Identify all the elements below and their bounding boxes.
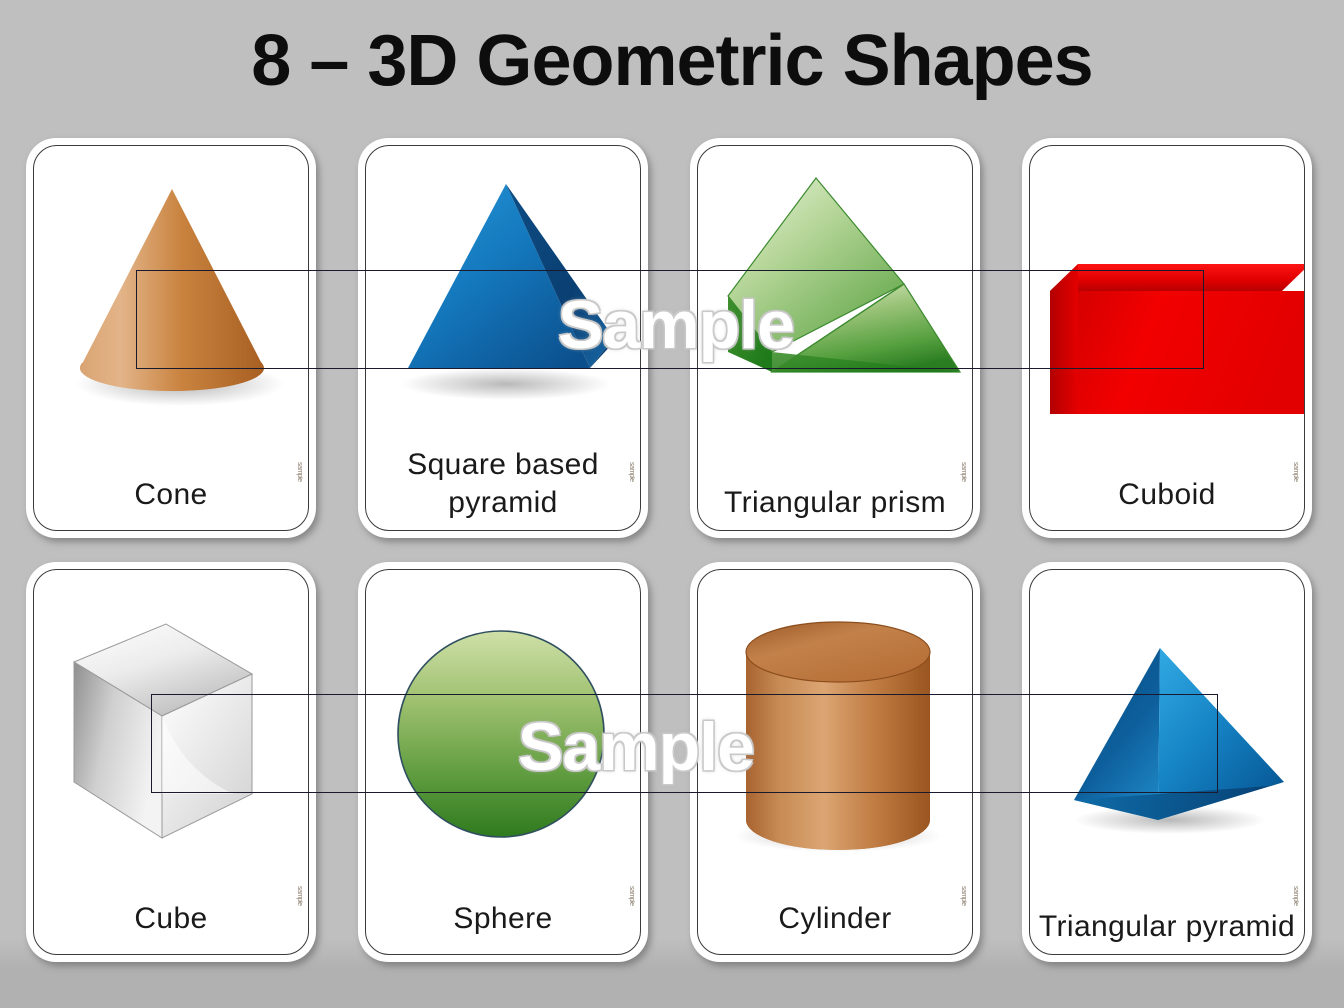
flashcard-square-based-pyramid[interactable]: Square based pyramid sample bbox=[358, 138, 648, 538]
flashcard-cone[interactable]: Cone sample bbox=[26, 138, 316, 538]
corner-watermark: sample bbox=[295, 462, 304, 488]
corner-watermark: sample bbox=[1291, 886, 1300, 912]
card-label: Cone bbox=[34, 476, 308, 514]
card-inner: Cylinder sample bbox=[697, 569, 973, 955]
flashcard-cylinder[interactable]: Cylinder sample bbox=[690, 562, 980, 962]
triangular-pyramid-shape bbox=[1030, 570, 1305, 870]
card-inner: Cube sample bbox=[33, 569, 309, 955]
square-based-pyramid-shape bbox=[366, 156, 641, 456]
card-label: Cuboid bbox=[1030, 476, 1304, 514]
corner-watermark: sample bbox=[959, 886, 968, 912]
corner-watermark: sample bbox=[959, 462, 968, 488]
cube-shape bbox=[34, 582, 309, 882]
card-inner: Square based pyramid sample bbox=[365, 145, 641, 531]
card-inner: Triangular pyramid sample bbox=[1029, 569, 1305, 955]
corner-watermark: sample bbox=[295, 886, 304, 912]
card-inner: Triangular prism sample bbox=[697, 145, 973, 531]
corner-watermark: sample bbox=[1291, 462, 1300, 488]
flashcard-triangular-pyramid[interactable]: Triangular pyramid sample bbox=[1022, 562, 1312, 962]
corner-watermark: sample bbox=[627, 462, 636, 488]
card-inner: Cuboid sample bbox=[1029, 145, 1305, 531]
card-label: Triangular prism bbox=[698, 484, 972, 522]
cone-shape bbox=[34, 156, 309, 456]
flashcard-cuboid[interactable]: Cuboid sample bbox=[1022, 138, 1312, 538]
flashcard-sphere[interactable]: Sphere sample bbox=[358, 562, 648, 962]
card-inner: Cone sample bbox=[33, 145, 309, 531]
card-inner: Sphere sample bbox=[365, 569, 641, 955]
triangular-prism-shape bbox=[698, 156, 973, 456]
sphere-shape bbox=[366, 582, 641, 882]
card-label: Cube bbox=[34, 900, 308, 938]
cuboid-shape bbox=[1030, 156, 1305, 456]
card-label: Cylinder bbox=[698, 900, 972, 938]
flashcard-triangular-prism[interactable]: Triangular prism sample bbox=[690, 138, 980, 538]
card-label: Sphere bbox=[366, 900, 640, 938]
flashcard-cube[interactable]: Cube sample bbox=[26, 562, 316, 962]
card-label: Triangular pyramid bbox=[1030, 908, 1304, 946]
flashcard-grid: Cone sample bbox=[0, 0, 1344, 1008]
card-label: Square based pyramid bbox=[366, 446, 640, 522]
corner-watermark: sample bbox=[627, 886, 636, 912]
cylinder-shape bbox=[698, 582, 973, 882]
